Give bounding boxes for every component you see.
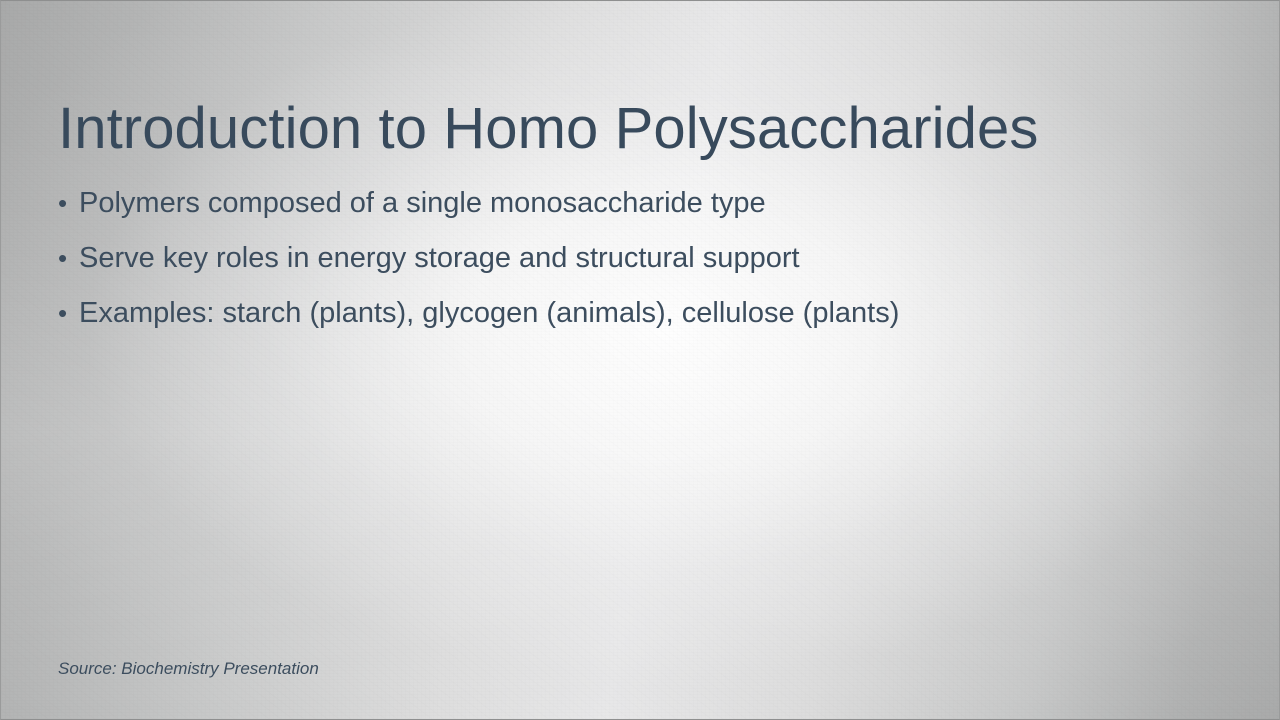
bullet-point-icon: • (58, 300, 79, 326)
list-item: • Serve key roles in energy storage and … (58, 244, 1208, 274)
page-title: Introduction to Homo Polysaccharides (58, 95, 1178, 162)
presentation-slide: Introduction to Homo Polysaccharides • P… (0, 0, 1280, 720)
bullet-point-icon: • (58, 245, 79, 271)
list-item-label: Polymers composed of a single monosaccha… (79, 189, 1208, 218)
list-item-label: Examples: starch (plants), glycogen (ani… (79, 299, 1208, 328)
bullet-point-icon: • (58, 190, 79, 216)
list-item: • Examples: starch (plants), glycogen (a… (58, 299, 1208, 329)
bullet-list: • Polymers composed of a single monosacc… (58, 189, 1208, 354)
list-item: • Polymers composed of a single monosacc… (58, 189, 1208, 219)
source-attribution: Source: Biochemistry Presentation (58, 659, 319, 679)
slide-content: Introduction to Homo Polysaccharides • P… (1, 1, 1279, 719)
list-item-label: Serve key roles in energy storage and st… (79, 244, 1208, 273)
